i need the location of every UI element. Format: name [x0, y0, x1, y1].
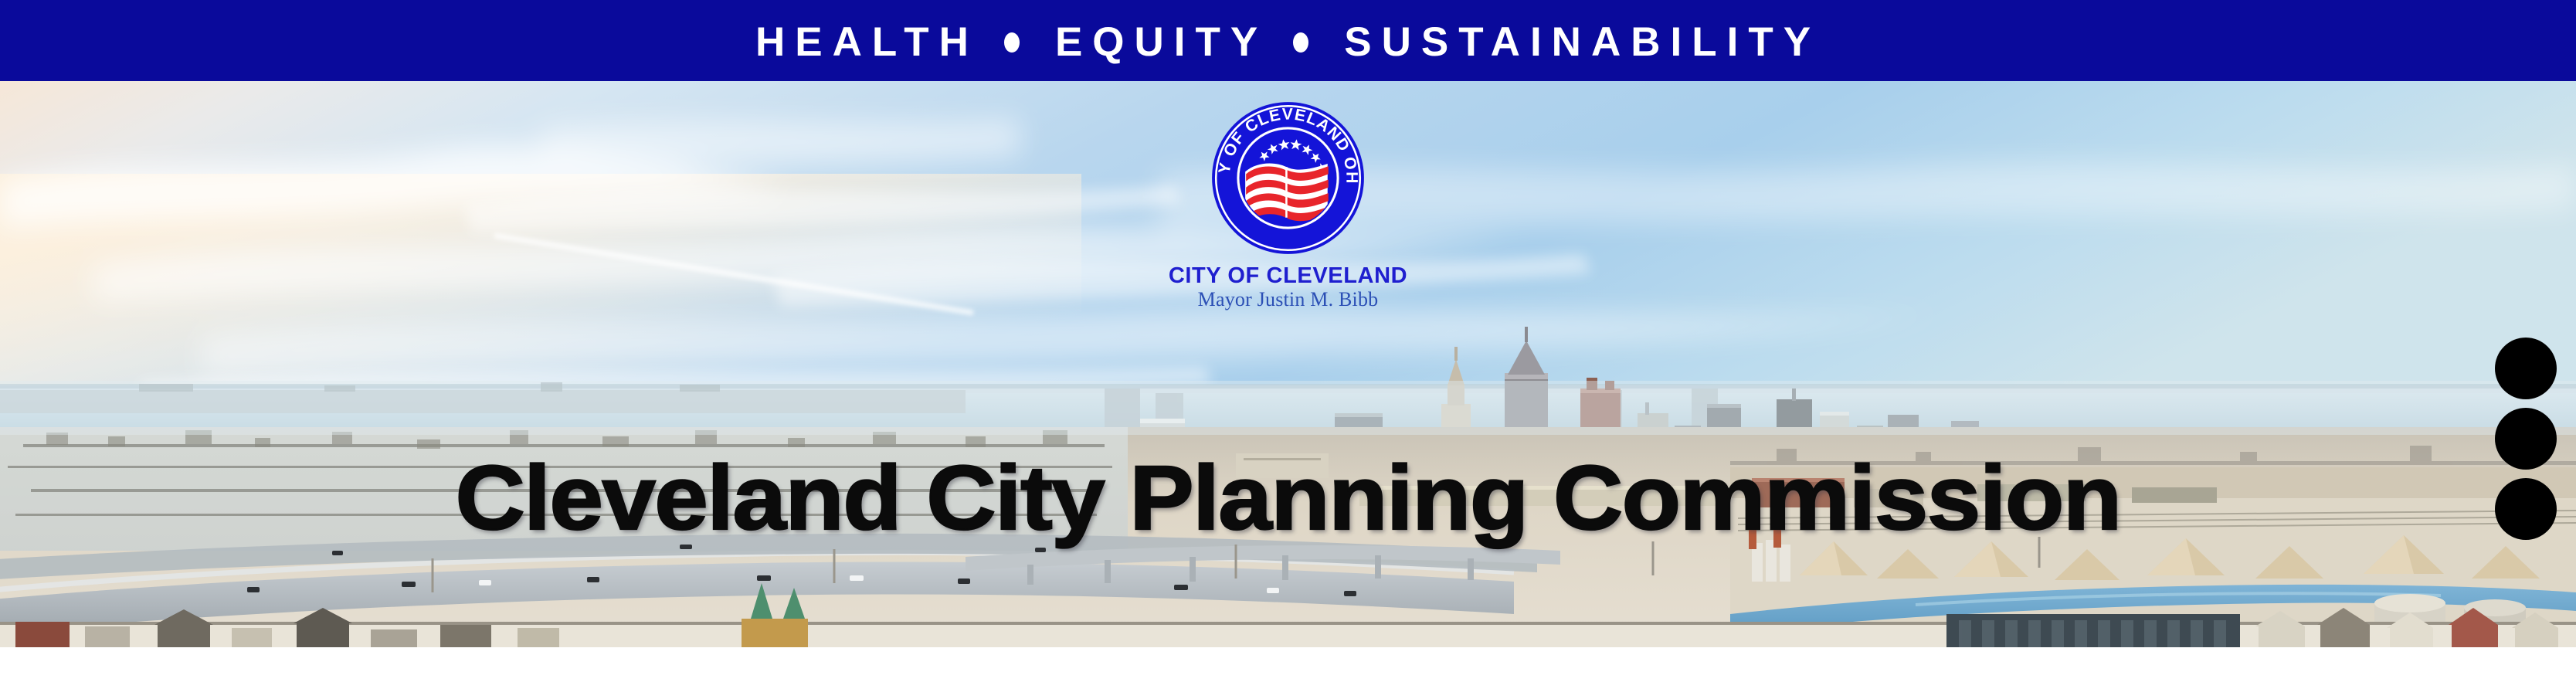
tagline-word-equity: EQUITY — [1055, 22, 1268, 63]
city-of-cleveland-ohio-seal-icon: CITY OF CLEVELAND OHIO — [1209, 99, 1367, 257]
page-title: Cleveland City Planning Commission — [0, 453, 2576, 544]
bullet-dot-icon — [1004, 32, 1020, 53]
cleveland-city-planning-commission-banner: HEALTH EQUITY SUSTAINABILITY — [0, 0, 2576, 682]
youtube-icon[interactable] — [2495, 338, 2557, 399]
tagline-word-sustainability: SUSTAINABILITY — [1344, 22, 1821, 63]
city-logo-block: CITY OF CLEVELAND OHIO — [1072, 99, 1505, 311]
logo-subtitle-mayor: Mayor Justin M. Bibb — [1072, 289, 1505, 311]
logo-title: CITY OF CLEVELAND — [1072, 264, 1505, 287]
social-links — [2495, 338, 2557, 540]
tagline-banner: HEALTH EQUITY SUSTAINABILITY — [0, 0, 2576, 81]
tagline-word-health: HEALTH — [755, 22, 979, 63]
instagram-icon[interactable] — [2495, 408, 2557, 470]
bottom-white-strip — [0, 647, 2576, 682]
bullet-dot-icon — [1293, 32, 1308, 53]
facebook-icon[interactable] — [2495, 478, 2557, 540]
tagline-banner-inner: HEALTH EQUITY SUSTAINABILITY — [755, 22, 1821, 63]
